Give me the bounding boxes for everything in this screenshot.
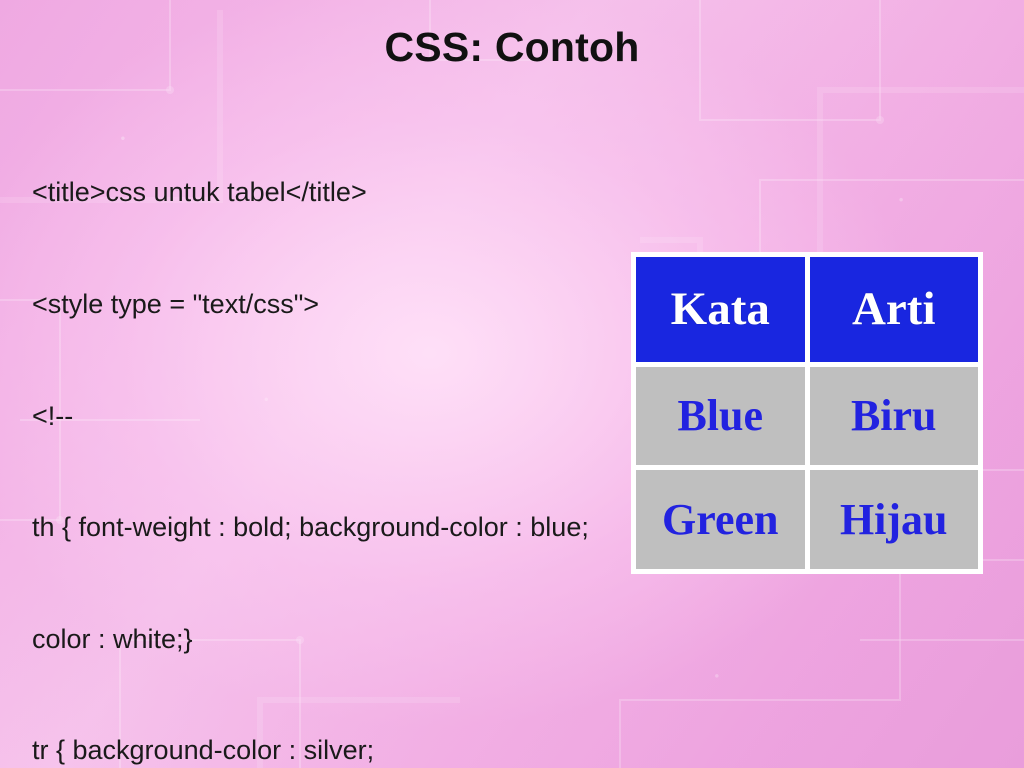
result-table: Kata Arti Blue Biru Green Hijau: [631, 252, 983, 574]
table-header-row: Kata Arti: [636, 257, 978, 362]
page-title: CSS: Contoh: [0, 24, 1024, 71]
code-line: <style type = "text/css">: [32, 286, 652, 323]
table-cell: Biru: [810, 367, 979, 466]
table-cell: Blue: [636, 367, 805, 466]
code-line: <!--: [32, 398, 652, 435]
slide: CSS: Contoh <title>css untuk tabel</titl…: [0, 0, 1024, 768]
code-line: <title>css untuk tabel</title>: [32, 174, 652, 211]
code-line: th { font-weight : bold; background-colo…: [32, 509, 652, 546]
table-row: Blue Biru: [636, 367, 978, 466]
table-cell: Green: [636, 470, 805, 569]
code-line: color : white;}: [32, 621, 652, 658]
table-header-cell: Kata: [636, 257, 805, 362]
table-cell: Hijau: [810, 470, 979, 569]
rendered-table-screenshot: Kata Arti Blue Biru Green Hijau: [631, 252, 983, 574]
code-listing: <title>css untuk tabel</title> <style ty…: [32, 100, 652, 768]
code-line: tr { background-color : silver;: [32, 732, 652, 768]
table-row: Green Hijau: [636, 470, 978, 569]
table-header-cell: Arti: [810, 257, 979, 362]
